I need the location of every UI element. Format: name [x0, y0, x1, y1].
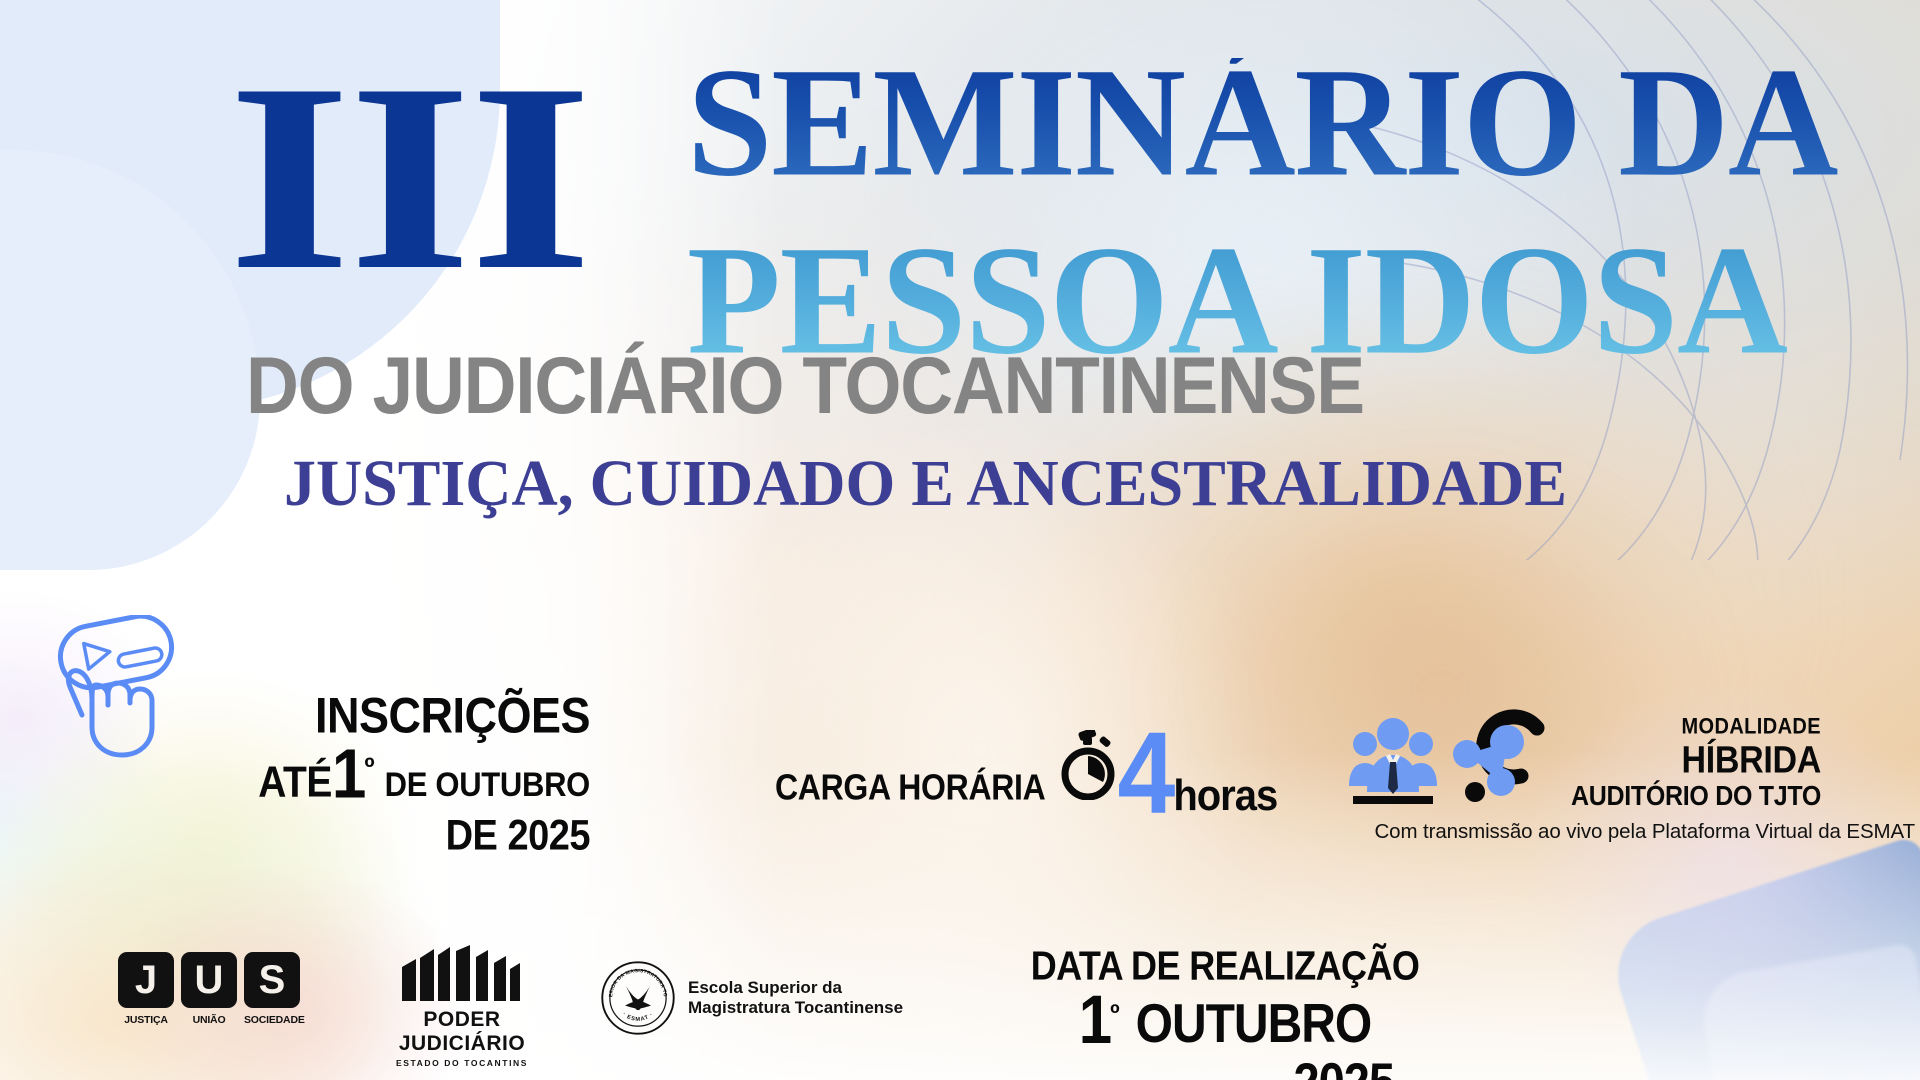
logo-esmat-line-1: Escola Superior da [688, 978, 903, 998]
logo-pj-title: PODER JUDICIÁRIO [372, 1008, 552, 1056]
modality-note: Com transmissão ao vivo pela Plataforma … [1350, 820, 1915, 844]
modality-label: MODALIDADE [1571, 715, 1821, 740]
registration-month: DE OUTUBRO [385, 765, 590, 805]
logo-pj-subtitle: ESTADO DO TOCANTINS [372, 1058, 552, 1068]
logo-jus-label: UNIÃO [181, 1014, 237, 1026]
people-group-icon [1345, 714, 1441, 806]
logo-jus-label: SOCIEDADE [244, 1014, 300, 1026]
workload-hours: 4 [1117, 722, 1171, 827]
event-date-day: 1 [1079, 989, 1110, 1051]
logo-esmat: ESCOLA SUPERIOR DA MAGISTRATURA TOCANTIN… [600, 960, 903, 1036]
title-line-3: DO JUDICIÁRIO TOCANTINENSE [246, 346, 1364, 426]
poster-canvas: III SEMINÁRIO DA PESSOA IDOSA DO JUDICIÁ… [0, 0, 1920, 1080]
registration-title: INSCRIÇÕES [160, 690, 590, 740]
workload-unit: horas [1173, 772, 1277, 821]
event-date-day-ordinal: º [1110, 998, 1120, 1029]
logo-jus-label: JUSTIÇA [118, 1014, 174, 1026]
logo-esmat-line-2: Magistratura Tocantinense [688, 998, 903, 1018]
workload-block: CARGA HORÁRIA 4 horas [775, 700, 1277, 822]
edition-numeral: III [228, 54, 590, 301]
logo-jus: J U S JUSTIÇA UNIÃO SOCIEDADE [118, 952, 318, 1026]
title-line-1: SEMINÁRIO DA [687, 58, 1838, 189]
registration-day: 1 [332, 744, 364, 806]
svg-text:· ESMAT ·: · ESMAT · [621, 1012, 655, 1023]
modality-text: MODALIDADE HÍBRIDA AUDITÓRIO DO TJTO [1571, 716, 1821, 811]
event-date-year: 2025 [1020, 1050, 1430, 1080]
registration-until-label: ATÉ [258, 758, 332, 807]
svg-text:ESCOLA SUPERIOR DA MAGISTRATUR: ESCOLA SUPERIOR DA MAGISTRATURA TOCANTIN… [600, 960, 668, 997]
logo-poder-judiciario: PODER JUDICIÁRIO ESTADO DO TOCANTINS [372, 945, 552, 1068]
network-hybrid-icon [1445, 704, 1557, 806]
modality-value: HÍBRIDA [1571, 739, 1821, 783]
modality-venue: AUDITÓRIO DO TJTO [1571, 780, 1821, 812]
logo-jus-letter: U [181, 952, 237, 1008]
modality-block: MODALIDADE HÍBRIDA AUDITÓRIO DO TJTO [1345, 700, 1821, 811]
logo-jus-letter: S [244, 952, 300, 1008]
registration-day-ordinal: º [364, 752, 374, 784]
logo-jus-letters: J U S [118, 952, 318, 1008]
logo-building-icon [372, 945, 552, 1003]
stopwatch-icon [1057, 730, 1119, 800]
event-date-block: DATA DE REALIZAÇÃO 1 º OUTUBRO 2025 [1020, 945, 1430, 1080]
registration-year: DE 2025 [160, 815, 590, 858]
event-date-row: 1 º OUTUBRO [1020, 993, 1430, 1052]
title-line-4: JUSTIÇA, CUIDADO E ANCESTRALIDADE [284, 452, 1567, 518]
logo-jus-letter: J [118, 952, 174, 1008]
logo-jus-labels: JUSTIÇA UNIÃO SOCIEDADE [118, 1014, 318, 1026]
workload-label: CARGA HORÁRIA [775, 767, 1045, 808]
registration-block: INSCRIÇÕES ATÉ 1 º DE OUTUBRO DE 2025 [160, 690, 590, 853]
registration-deadline-row: ATÉ 1 º DE OUTUBRO [160, 747, 590, 805]
event-date-month: OUTUBRO [1136, 993, 1372, 1056]
logo-esmat-text: Escola Superior da Magistratura Tocantin… [688, 978, 903, 1019]
esmat-seal-icon: ESCOLA SUPERIOR DA MAGISTRATURA TOCANTIN… [600, 960, 676, 1036]
